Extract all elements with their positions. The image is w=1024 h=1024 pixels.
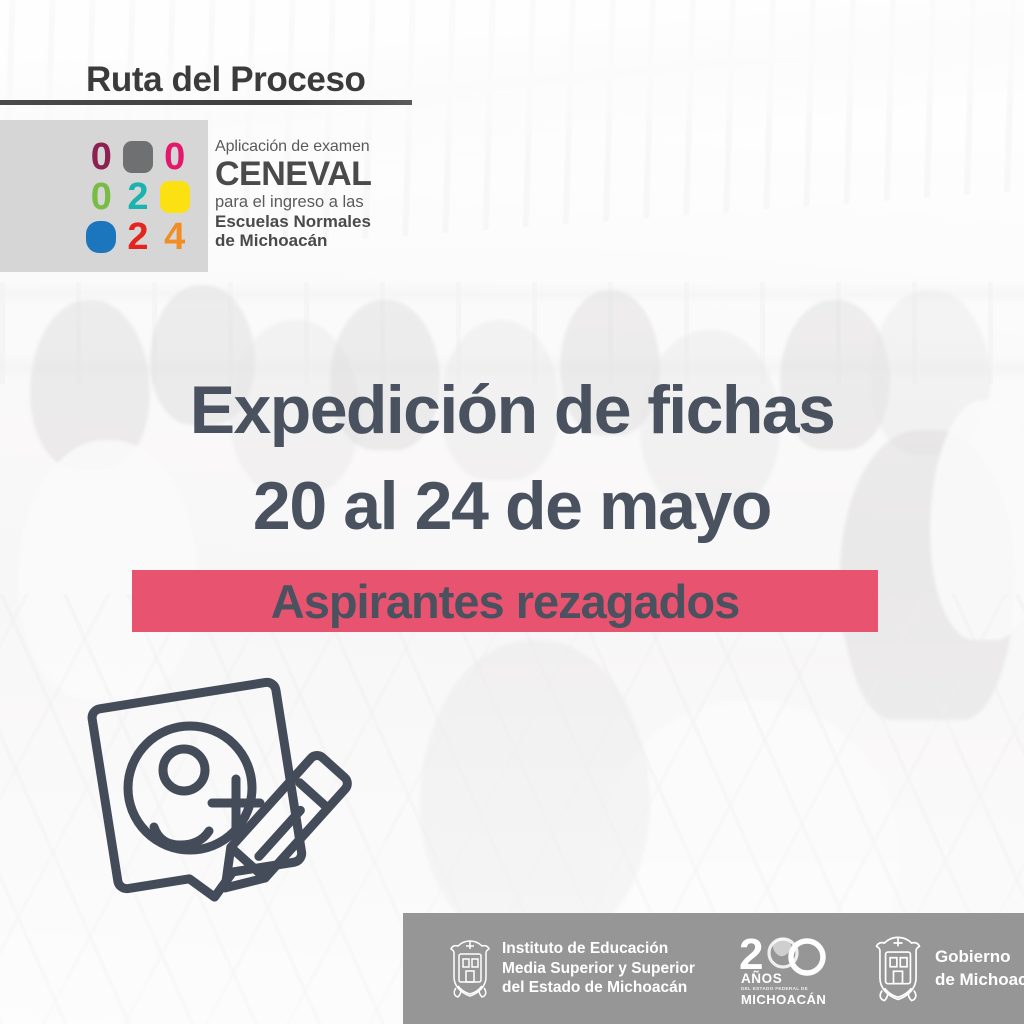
footer-gobierno-line-1: Gobierno <box>935 946 1024 968</box>
headline-dates: 20 al 24 de mayo <box>0 472 1024 540</box>
logo-cell-4: 2 <box>121 178 156 216</box>
ceneval-line-1: Aplicación de examen <box>215 138 475 156</box>
bicentennial-subtitle: DEL ESTADO FEDERAL DE <box>741 986 808 991</box>
user-shoulders <box>154 827 209 845</box>
logo-cell-1 <box>121 138 156 176</box>
highlight-band: Aspirantes rezagados <box>132 570 878 632</box>
logo-cell-5 <box>157 178 192 216</box>
bicentennial-200-mark: 2 <box>739 931 827 977</box>
header-divider-rule <box>0 100 412 105</box>
poster-canvas: Ruta del Proceso 0 0 0 2 2 4 <box>0 0 1024 1024</box>
logo-cell-0: 0 <box>84 138 119 176</box>
logo-cell-8: 4 <box>157 218 192 256</box>
logo-cell-6 <box>84 218 119 256</box>
logo-cell-7: 2 <box>121 218 156 256</box>
footer-iems-line-3: del Estado de Michoacán <box>502 978 695 998</box>
bicentennial-ornament-detail <box>773 938 791 956</box>
ceneval-line-4: Escuelas Normales <box>215 212 475 232</box>
michoacan-coat-of-arms-icon <box>448 938 492 1000</box>
footer-gobierno-line-2: de Michoacán <box>935 969 1024 991</box>
footer-iems-line-2: Media Superior y Superior <box>502 959 695 979</box>
footer-bicentennial-logo: 2 AÑOS DEL ESTADO FEDERAL DE MICHOACÁN <box>739 931 827 1007</box>
headline-primary: Expedición de fichas <box>0 376 1024 444</box>
document-add-user-pencil-icon <box>62 655 352 930</box>
footer-iems-text: Instituto de Educación Media Superior y … <box>502 939 695 998</box>
highlight-band-label: Aspirantes rezagados <box>271 578 739 625</box>
pencil-icon <box>208 752 351 903</box>
ceneval-line-5: de Michoacán <box>215 231 475 251</box>
user-head <box>163 749 205 791</box>
bicentennial-state-label: MICHOACÁN <box>741 992 826 1007</box>
ceneval-2024-logo-grid: 0 0 0 2 2 4 <box>84 138 192 246</box>
footer-iems-line-1: Instituto de Educación <box>502 939 695 959</box>
headline-block: Expedición de fichas 20 al 24 de mayo <box>0 376 1024 540</box>
page-title: Ruta del Proceso <box>86 60 366 100</box>
logo-cell-3: 0 <box>84 178 119 216</box>
michoacan-coat-of-arms-icon-2 <box>873 934 923 1004</box>
footer-gobierno-lockup: Gobierno de Michoacán <box>873 934 1024 1004</box>
footer-bar: Instituto de Educación Media Superior y … <box>403 913 1024 1024</box>
bicentennial-two-glyph: 2 <box>739 931 763 979</box>
logo-cell-2: 0 <box>157 138 192 176</box>
footer-iems-lockup: Instituto de Educación Media Superior y … <box>448 938 695 1000</box>
footer-gobierno-text: Gobierno de Michoacán <box>935 946 1024 990</box>
ceneval-wordmark: CENEVAL <box>215 157 475 193</box>
ceneval-text-lockup: Aplicación de examen CENEVAL para el ing… <box>215 138 475 251</box>
ceneval-line-3: para el ingreso a las <box>215 193 475 211</box>
